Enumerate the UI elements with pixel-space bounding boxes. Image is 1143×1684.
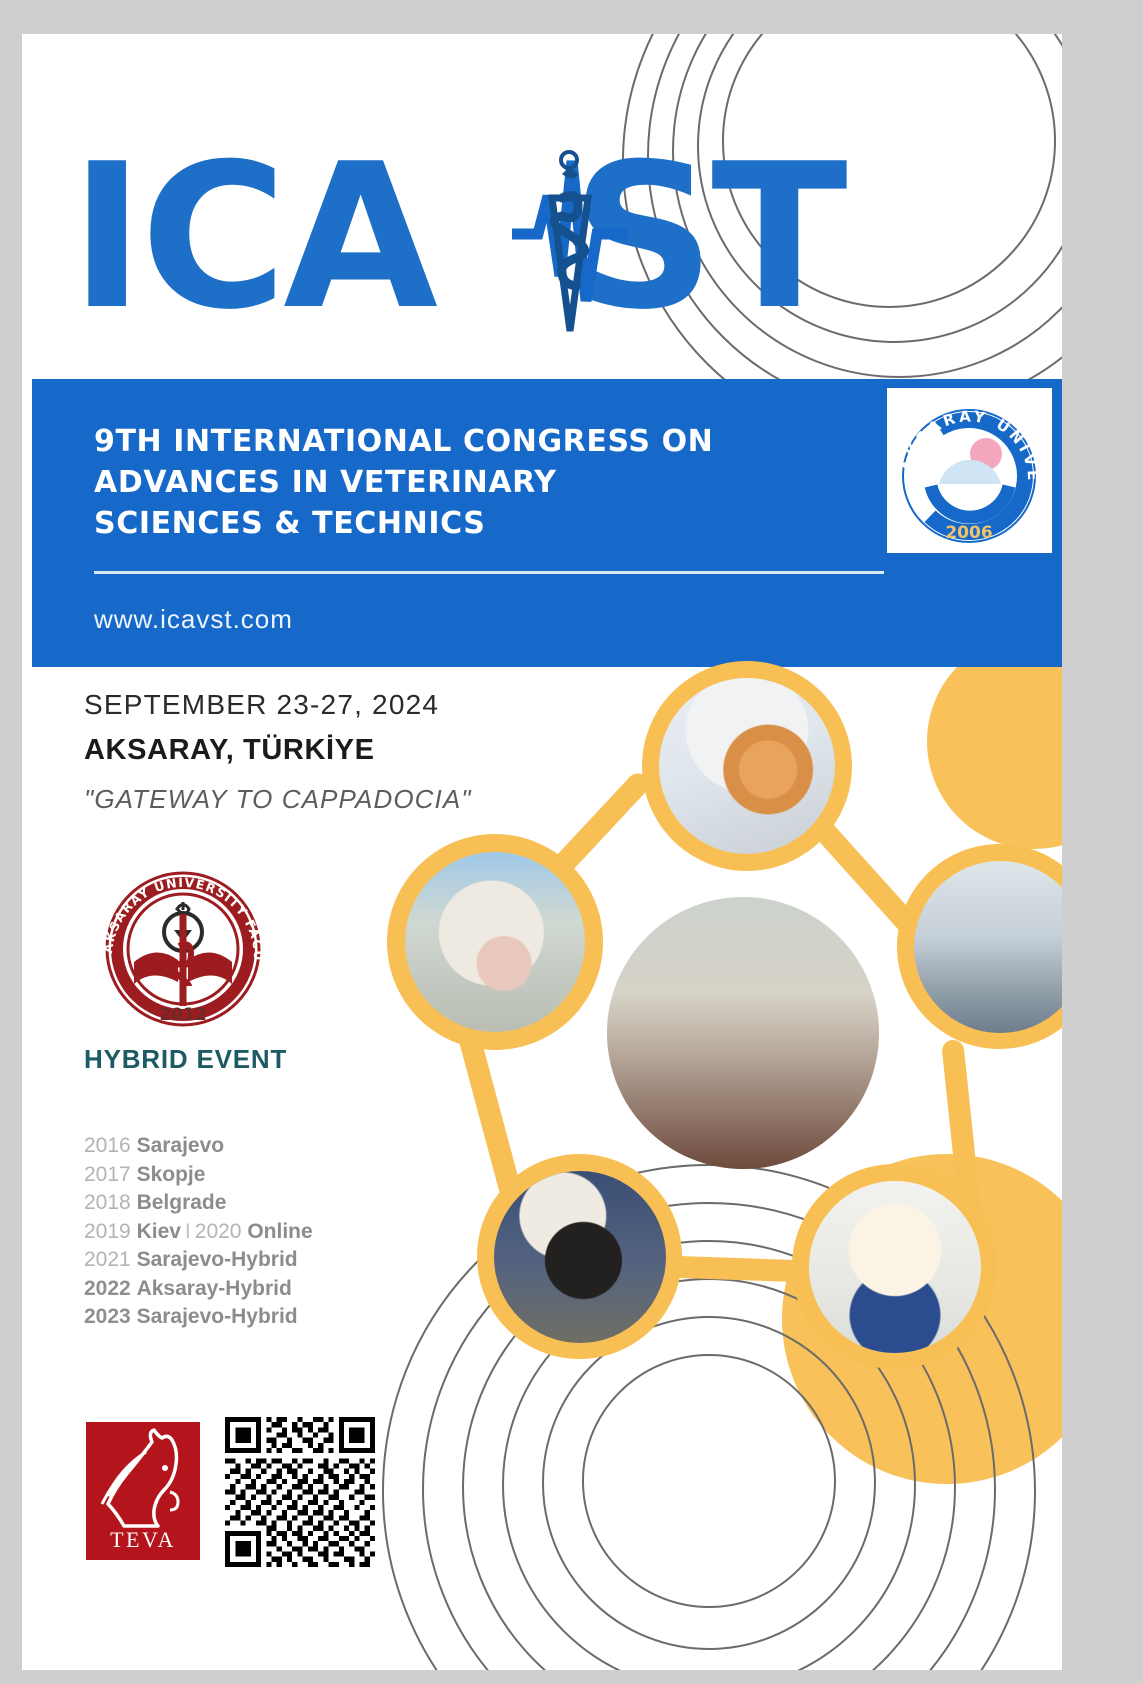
- past-event-separator: I: [181, 1220, 195, 1243]
- logo-text-left: ICA: [70, 121, 420, 354]
- photo-sheep-image: [494, 1171, 666, 1343]
- aksaray-university-logo-year: 2006: [945, 523, 992, 543]
- photo-sheep: [477, 1154, 682, 1359]
- congress-title-line-1: 9TH INTERNATIONAL CONGRESS ON: [94, 421, 794, 462]
- past-event-year: 2016: [84, 1134, 131, 1157]
- conference-poster: ICAVST 9TH INTERNATIONAL CONGRESS ON ADV…: [22, 34, 1062, 1670]
- congress-title-line-3: SCIENCES & TECHNICS: [94, 503, 794, 544]
- past-event-year: 2023: [84, 1305, 131, 1328]
- past-event-year: 2021: [84, 1248, 131, 1271]
- faculty-seal-year: 2012: [159, 1005, 206, 1025]
- past-event-city: Aksaray-Hybrid: [137, 1277, 292, 1300]
- qr-code-matrix: [225, 1417, 375, 1567]
- photo-puppy-image: [809, 1181, 981, 1353]
- past-event-city: Skopje: [137, 1163, 206, 1186]
- teva-logo: TEVA: [86, 1422, 200, 1560]
- past-event-city: Kiev: [137, 1220, 181, 1243]
- aksaray-university-logo-mark: AKSARAY UNIVERSITY 2006: [887, 388, 1052, 553]
- photo-cow-image: [405, 852, 585, 1032]
- past-event-city: Sarajevo: [137, 1134, 225, 1157]
- photo-cat-examination: [642, 661, 852, 871]
- horse-head-icon: [86, 1426, 200, 1536]
- aksaray-university-logo: AKSARAY UNIVERSITY 2006: [887, 388, 1052, 553]
- past-event-year-secondary: 2020: [195, 1220, 242, 1243]
- past-event-city: Sarajevo-Hybrid: [137, 1305, 298, 1328]
- qr-code[interactable]: [225, 1417, 375, 1567]
- website-url[interactable]: www.icavst.com: [94, 604, 293, 635]
- past-event-year: 2017: [84, 1163, 131, 1186]
- congress-title-line-2: ADVANCES IN VETERINARY: [94, 462, 794, 503]
- photo-cluster: [352, 649, 1062, 1389]
- congress-banner: 9TH INTERNATIONAL CONGRESS ON ADVANCES I…: [32, 379, 1062, 667]
- past-event-year: 2019: [84, 1220, 131, 1243]
- past-event-year: 2022: [84, 1277, 131, 1300]
- icavst-logo: ICAVST: [70, 138, 950, 368]
- congress-title: 9TH INTERNATIONAL CONGRESS ON ADVANCES I…: [94, 421, 794, 544]
- photo-puppy-doctor: [792, 1164, 997, 1369]
- photo-anatomy-museum: [607, 897, 879, 1169]
- event-location: AKSARAY, TÜRKİYE: [84, 734, 375, 767]
- photo-cow: [387, 834, 603, 1050]
- past-event-city: Belgrade: [137, 1191, 227, 1214]
- photo-anatomy-image: [607, 897, 879, 1169]
- hybrid-event-badge: HYBRID EVENT: [84, 1044, 287, 1075]
- veterinary-faculty-seal-mark: AKSARAY UNIVERSITY FACULTY OF VETERINARY…: [94, 854, 272, 1032]
- ring-arc-bottom-1: [582, 1354, 836, 1608]
- teva-wordmark: TEVA: [86, 1527, 200, 1553]
- caduceus-ekg-icon: [500, 126, 640, 341]
- faculty-of-veterinary-medicine-seal: AKSARAY UNIVERSITY FACULTY OF VETERINARY…: [94, 854, 272, 1024]
- past-event-year: 2018: [84, 1191, 131, 1214]
- photo-laboratory: [897, 844, 1062, 1049]
- past-event-city-secondary: Online: [247, 1220, 312, 1243]
- past-event-city: Sarajevo-Hybrid: [137, 1248, 298, 1271]
- banner-divider: [94, 571, 884, 574]
- photo-cat-image: [659, 678, 835, 854]
- screenshot-canvas: ICAVST 9TH INTERNATIONAL CONGRESS ON ADV…: [0, 0, 1143, 1684]
- photo-laboratory-image: [914, 861, 1063, 1033]
